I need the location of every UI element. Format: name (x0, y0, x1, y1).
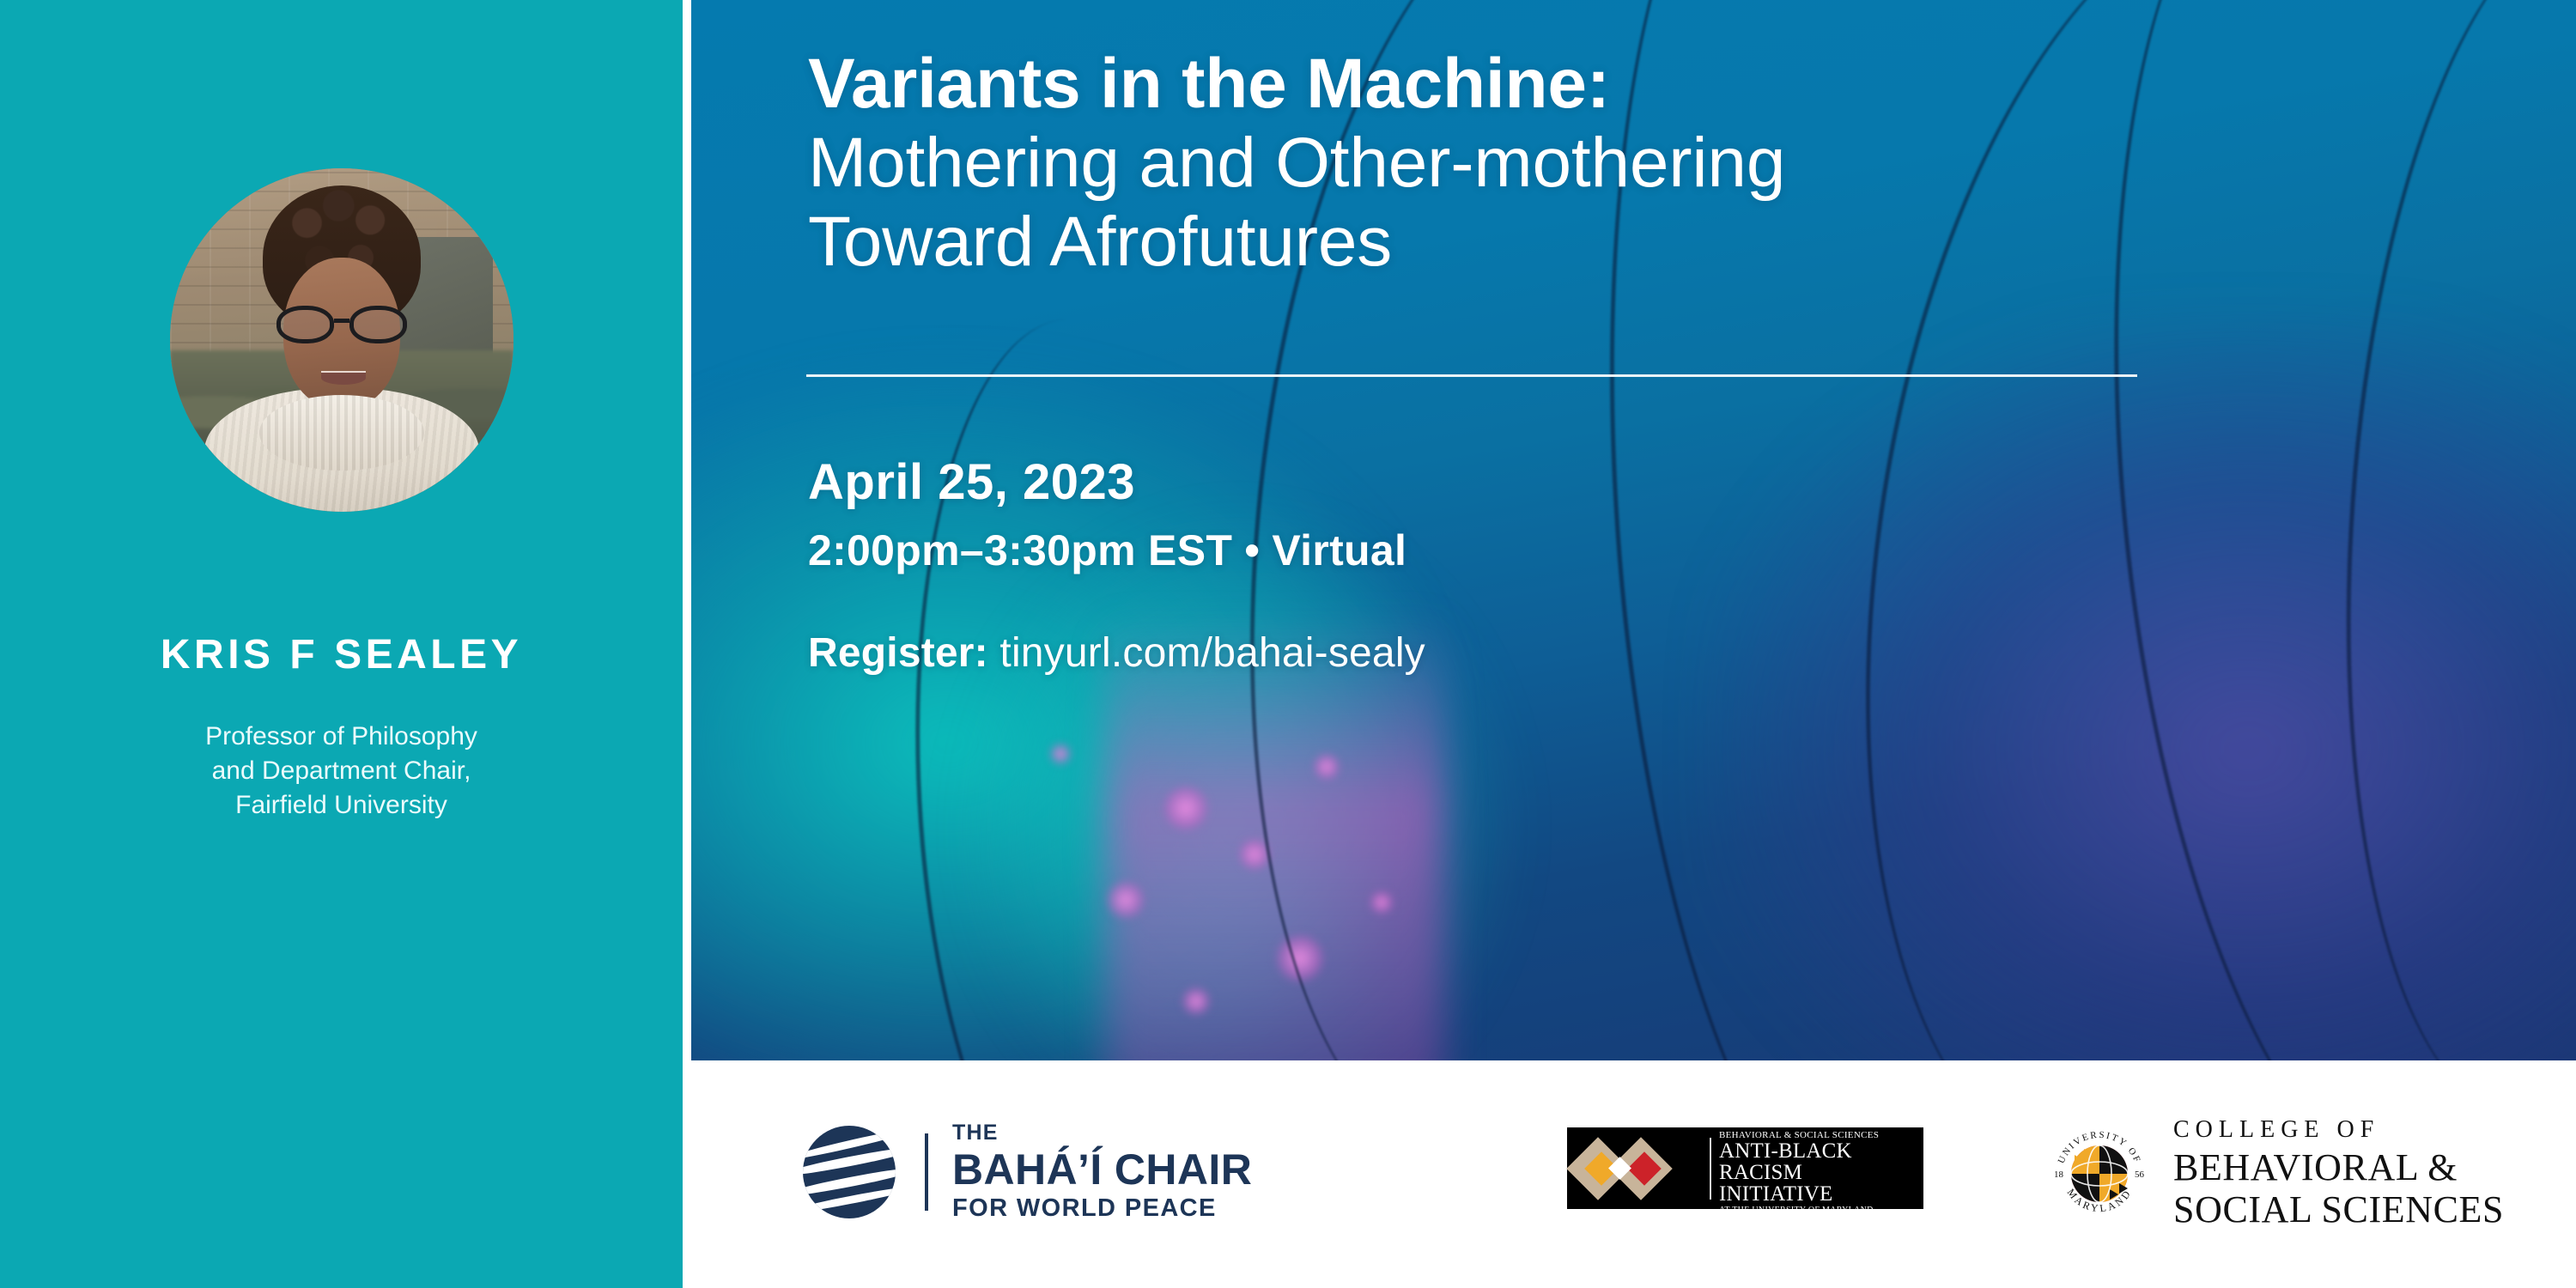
abri-line-3: ANTI-BLACK (1719, 1140, 1879, 1162)
event-date: April 25, 2023 (808, 453, 1135, 511)
logo-footer: THE BAHÁ’Í CHAIR FOR WORLD PEACE THE COL… (683, 1060, 2576, 1288)
speaker-panel: KRIS F SEALEY Professor of Philosophy an… (0, 0, 683, 1288)
logo-divider (925, 1133, 928, 1211)
portrait-smile (321, 371, 366, 385)
anti-black-racism-initiative-logo[interactable]: THE COLLEGE OF BEHAVIORAL & SOCIAL SCIEN… (1567, 1127, 1923, 1209)
register-url[interactable]: tinyurl.com/bahai-sealy (999, 630, 1425, 676)
event-title-line-1: Variants in the Machine: (808, 45, 2491, 124)
logo-row: THE BAHÁ’Í CHAIR FOR WORLD PEACE THE COL… (683, 1060, 2576, 1288)
abri-line-5: INITIATIVE (1719, 1183, 1879, 1205)
event-title-line-3: Toward Afrofutures (808, 203, 2491, 282)
event-details-panel: Variants in the Machine: Mothering and O… (691, 0, 2576, 1060)
event-title-line-2: Mothering and Other-mothering (808, 124, 2491, 203)
bahai-chair-wordmark: THE BAHÁ’Í CHAIR FOR WORLD PEACE (952, 1122, 1252, 1221)
eyeglass-lens-left (276, 306, 334, 343)
umd-line-3: SOCIAL SCIENCES (2173, 1189, 2504, 1230)
registration-line: Register: tinyurl.com/bahai-sealy (808, 629, 1425, 677)
umd-seal-icon: UNIVERSITY OF MARYLAND 18 56 (2048, 1122, 2151, 1225)
bahai-line-3: FOR WORLD PEACE (952, 1196, 1252, 1221)
speaker-role-line-3: Fairfield University (0, 788, 683, 823)
umd-cbss-logo[interactable]: UNIVERSITY OF MARYLAND 18 56 COLLEGE OF … (2048, 1117, 2504, 1230)
speaker-role-line-1: Professor of Philosophy (0, 720, 683, 754)
diamond-emblem-icon (1571, 1131, 1708, 1206)
event-title: Variants in the Machine: Mothering and O… (808, 45, 2491, 281)
eyeglass-lens-right (349, 306, 407, 343)
event-time-location: 2:00pm–3:30pm EST • Virtual (808, 526, 1406, 575)
bahai-line-1: THE (952, 1122, 1252, 1144)
portrait-cowl-collar (259, 395, 424, 471)
speaker-role-line-2: and Department Chair, (0, 754, 683, 788)
event-flyer: KRIS F SEALEY Professor of Philosophy an… (0, 0, 2576, 1288)
speaker-role: Professor of Philosophy and Department C… (0, 720, 683, 823)
speaker-name: KRIS F SEALEY (0, 631, 683, 678)
speaker-portrait (170, 168, 513, 512)
abri-wordmark: THE COLLEGE OF BEHAVIORAL & SOCIAL SCIEN… (1719, 1121, 1879, 1216)
umd-cbss-wordmark: COLLEGE OF BEHAVIORAL & SOCIAL SCIENCES (2173, 1117, 2504, 1230)
bahai-chair-logo[interactable]: THE BAHÁ’Í CHAIR FOR WORLD PEACE (803, 1122, 1252, 1221)
bahai-line-2: BAHÁ’Í CHAIR (952, 1148, 1252, 1191)
svg-text:56: 56 (2135, 1170, 2145, 1180)
abri-line-4: RACISM (1719, 1162, 1879, 1183)
portrait-eyeglasses (276, 306, 407, 343)
globe-icon (803, 1126, 896, 1218)
logo-divider (1710, 1138, 1711, 1200)
register-label: Register: (808, 630, 988, 676)
umd-line-2: BEHAVIORAL & (2173, 1147, 2504, 1188)
abri-line-6: AT THE UNIVERSITY OF MARYLAND (1719, 1206, 1879, 1216)
umd-line-1: COLLEGE OF (2173, 1117, 2504, 1143)
title-divider (806, 374, 2137, 377)
eyeglass-bridge (334, 319, 349, 323)
svg-text:18: 18 (2054, 1170, 2064, 1180)
